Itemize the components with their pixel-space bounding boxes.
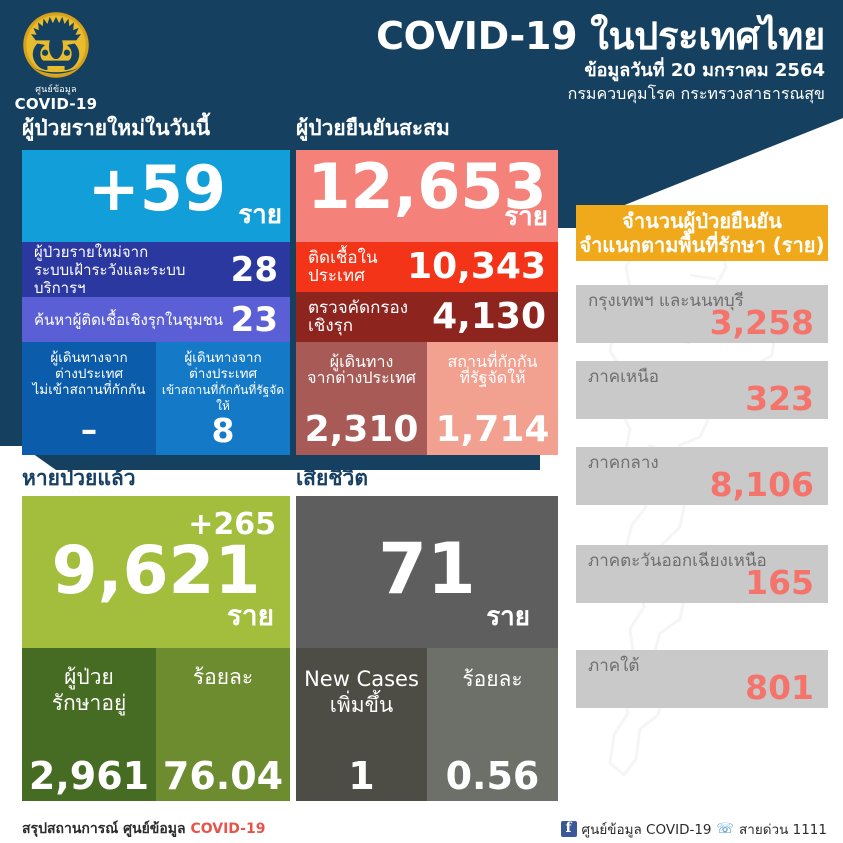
thai-government-garuda-seal-icon (17, 6, 95, 84)
phone-icon: ☏ (717, 821, 735, 837)
section-caption-new-cases: ผู้ป่วยรายใหม่ในวันนี้ (22, 116, 210, 140)
new-cases-split-no-quarantine-value: – (81, 413, 98, 447)
regions-title-box: จำนวนผู้ป่วยยืนยัน จำแนกตามพื้นที่รักษา … (576, 205, 828, 261)
recovered-split-active-treatment: ผู้ป่วย รักษาอยู่ 2,961 (22, 648, 156, 801)
page-title: COVID-19 ในประเทศไทย (376, 14, 825, 58)
deaths-split-percent-value: 0.56 (446, 759, 540, 793)
new-cases-total: +59 (88, 158, 226, 220)
region-row-bangkok-value: 3,258 (710, 305, 814, 341)
seal-caption-covid: COVID-19 (8, 96, 104, 112)
region-row-south-value: 801 (745, 670, 814, 706)
recovered-total: 9,621 (22, 538, 290, 604)
panel-cumulative: 12,653 ราย ติดเชื้อในประเทศ 10,343 ตรวจค… (296, 150, 558, 455)
panel-deaths: 71 ราย New Cases เพิ่มขึ้น 1 ร้อยละ 0.56 (296, 496, 558, 801)
cumulative-split-state-quarantine-l2: ที่รัฐจัดให้ (456, 370, 528, 386)
deaths-split-new-cases-l1: New Cases (301, 666, 422, 692)
panel-recovered: +265 9,621 ราย ผู้ป่วย รักษาอยู่ 2,961 ร… (22, 496, 290, 801)
cumulative-split-row: ผู้เดินทาง จากต่างประเทศ 2,310 สถานที่กั… (296, 342, 558, 455)
agency-line: กรมควบคุมโรค กระทรวงสาธารณสุข (568, 84, 825, 104)
cumulative-row-screening: ตรวจคัดกรองเชิงรุก 4,130 (296, 292, 558, 342)
deaths-hero: 71 ราย (296, 496, 558, 648)
new-cases-row-surveillance-value: 28 (231, 254, 290, 286)
deaths-split-new-cases-value: 1 (348, 759, 374, 793)
panel-new-cases: +59 ราย ผู้ป่วยรายใหม่จาก ระบบเฝ้าระวังแ… (22, 150, 290, 455)
footer-source-text: สรุปสถานการณ์ ศูนย์ข้อมูล (22, 821, 190, 837)
recovered-split-percent-value: 76.04 (163, 759, 283, 793)
cumulative-split-from-abroad-value: 2,310 (305, 413, 419, 447)
new-cases-split-state-quarantine-value: 8 (212, 414, 235, 448)
cumulative-split-from-abroad-l2: จากต่างประเทศ (304, 370, 419, 386)
region-row-central: ภาคกลาง 8,106 (576, 447, 828, 505)
report-date: ข้อมูลวันที่ 20 มกราคม 2564 (584, 60, 825, 82)
cumulative-row-screening-value: 4,130 (432, 301, 558, 333)
new-cases-row-surveillance-label-l1: ผู้ป่วยรายใหม่จาก (34, 243, 231, 261)
facebook-icon[interactable] (561, 821, 577, 837)
deaths-split-new-cases-l2: เพิ่มขึ้น (327, 692, 397, 718)
new-cases-split-state-quarantine: ผู้เดินทางจาก ต่างประเทศ เข้าสถานที่กักก… (156, 342, 290, 455)
deaths-split-percent-l1: ร้อยละ (459, 666, 525, 692)
infographic-root: ศูนย์ข้อมูล COVID-19 COVID-19 ในประเทศไท… (0, 0, 843, 843)
recovered-split-row: ผู้ป่วย รักษาอยู่ 2,961 ร้อยละ 76.04 (22, 648, 290, 801)
new-cases-split-state-quarantine-l1: ผู้เดินทางจาก (181, 350, 264, 366)
footer-source-accent: COVID-19 (190, 821, 265, 837)
region-row-south: ภาคใต้ 801 (576, 650, 828, 708)
region-row-north: ภาคเหนือ 323 (576, 361, 828, 419)
region-row-central-value: 8,106 (710, 467, 814, 503)
new-cases-split-no-quarantine: ผู้เดินทางจาก ต่างประเทศ ไม่เข้าสถานที่ก… (22, 342, 156, 455)
cumulative-row-domestic: ติดเชื้อในประเทศ 10,343 (296, 242, 558, 292)
region-row-northeast-value: 165 (745, 565, 814, 601)
cumulative-row-domestic-label: ติดเชื้อในประเทศ (296, 249, 407, 285)
cumulative-hero: 12,653 ราย (296, 150, 558, 242)
new-cases-row-active-search: ค้นหาผู้ติดเชื้อเชิงรุกในชุมชน 23 (22, 297, 290, 342)
region-row-central-name: ภาคกลาง (588, 453, 659, 473)
new-cases-row-active-search-label: ค้นหาผู้ติดเชื้อเชิงรุกในชุมชน (22, 311, 231, 329)
cumulative-row-domestic-value: 10,343 (407, 251, 558, 283)
deaths-unit: ราย (486, 604, 530, 630)
new-cases-split-state-quarantine-l3: เข้าสถานที่กักกันที่รัฐจัดให้ (156, 382, 290, 414)
region-row-north-name: ภาคเหนือ (588, 367, 659, 387)
footer-facebook-text: ศูนย์ข้อมูล COVID-19 (582, 818, 712, 840)
region-row-north-value: 323 (745, 381, 814, 417)
footer-hotline-text: สายด่วน 1111 (739, 818, 827, 840)
new-cases-split-no-quarantine-l3: ไม่เข้าสถานที่กักกัน (30, 382, 149, 398)
recovered-split-active-l2: รักษาอยู่ (49, 690, 130, 716)
recovered-split-active-l1: ผู้ป่วย (61, 664, 117, 690)
header-seal-block: ศูนย์ข้อมูล COVID-19 (8, 6, 104, 110)
region-row-northeast-name: ภาคตะวันออกเฉียงเหนือ (588, 551, 767, 571)
footer-contacts: ศูนย์ข้อมูล COVID-19 ☏ สายด่วน 1111 (561, 818, 827, 840)
new-cases-row-surveillance-label-l2: ระบบเฝ้าระวังและระบบบริการฯ (34, 261, 231, 297)
recovered-hero: +265 9,621 ราย (22, 496, 290, 648)
deaths-total: 71 (296, 534, 558, 604)
recovered-unit: ราย (227, 602, 274, 630)
regions-title-line1: จำนวนผู้ป่วยยืนยัน (622, 209, 782, 233)
new-cases-hero: +59 ราย (22, 150, 290, 242)
footer-source: สรุปสถานการณ์ ศูนย์ข้อมูล COVID-19 (22, 818, 265, 840)
cumulative-unit: ราย (504, 204, 548, 230)
new-cases-split-state-quarantine-l2: ต่างประเทศ (186, 366, 260, 382)
new-cases-row-active-search-value: 23 (231, 304, 290, 336)
section-caption-recovered: หายป่วยแล้ว (22, 466, 136, 490)
recovered-split-percent: ร้อยละ 76.04 (156, 648, 290, 801)
section-caption-deaths: เสียชีวิต (296, 466, 368, 490)
new-cases-split-no-quarantine-l2: ต่างประเทศ (52, 366, 126, 382)
cumulative-split-state-quarantine-value: 1,714 (436, 413, 550, 447)
new-cases-split-no-quarantine-l1: ผู้เดินทางจาก (47, 350, 130, 366)
cumulative-split-from-abroad: ผู้เดินทาง จากต่างประเทศ 2,310 (296, 342, 427, 455)
new-cases-row-surveillance: ผู้ป่วยรายใหม่จาก ระบบเฝ้าระวังและระบบบร… (22, 242, 290, 297)
region-row-bangkok: กรุงเทพฯ และนนทบุรี 3,258 (576, 285, 828, 343)
new-cases-split-row: ผู้เดินทางจาก ต่างประเทศ ไม่เข้าสถานที่ก… (22, 342, 290, 455)
region-row-northeast: ภาคตะวันออกเฉียงเหนือ 165 (576, 545, 828, 603)
section-caption-cumulative: ผู้ป่วยยืนยันสะสม (296, 116, 450, 140)
recovered-split-percent-l1: ร้อยละ (190, 664, 256, 690)
deaths-split-percent: ร้อยละ 0.56 (427, 648, 558, 801)
regions-title-line2: จำแนกตามพื้นที่รักษา (ราย) (579, 233, 824, 257)
recovered-split-active-value: 2,961 (29, 759, 149, 793)
deaths-split-row: New Cases เพิ่มขึ้น 1 ร้อยละ 0.56 (296, 648, 558, 801)
region-row-south-name: ภาคใต้ (588, 656, 639, 676)
cumulative-row-screening-label: ตรวจคัดกรองเชิงรุก (296, 299, 432, 335)
new-cases-unit: ราย (238, 202, 282, 228)
deaths-split-new-cases: New Cases เพิ่มขึ้น 1 (296, 648, 427, 801)
cumulative-split-state-quarantine: สถานที่กักกัน ที่รัฐจัดให้ 1,714 (427, 342, 558, 455)
